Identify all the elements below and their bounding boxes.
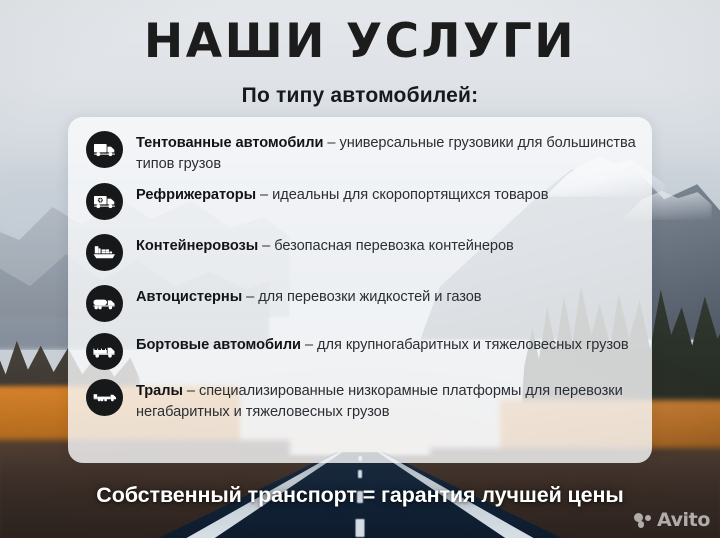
list-item: Рефрижераторы – идеальны для скоропортящ… xyxy=(86,183,638,220)
services-card: Тентованные автомобили – универсальные г… xyxy=(68,117,652,463)
services-list: Тентованные автомобили – универсальные г… xyxy=(86,131,638,423)
flatbed-truck-icon xyxy=(86,333,123,370)
list-item: Тралы – специализированные низкорамные п… xyxy=(86,379,638,422)
list-item-dash: – xyxy=(301,337,317,353)
avito-logo-icon xyxy=(634,513,653,528)
list-item-dash: – xyxy=(258,238,274,254)
list-item-text: Тралы – специализированные низкорамные п… xyxy=(136,379,638,422)
list-item-dash: – xyxy=(242,289,258,305)
list-item-dash: – xyxy=(183,383,199,399)
list-item-text: Контейнеровозы – безопасная перевозка ко… xyxy=(136,234,514,257)
list-item: Автоцистерны – для перевозки жидкостей и… xyxy=(86,285,638,322)
list-item-text: Бортовые автомобили – для крупногабаритн… xyxy=(136,333,629,356)
poster-canvas: НАШИ УСЛУГИ По типу автомобилей: Тентова… xyxy=(0,0,720,538)
list-item-term: Автоцистерны xyxy=(136,289,242,305)
list-item: Бортовые автомобили – для крупногабаритн… xyxy=(86,333,638,370)
list-item: Контейнеровозы – безопасная перевозка ко… xyxy=(86,234,638,271)
page-subtitle: По типу автомобилей: xyxy=(0,84,720,108)
tanker-truck-icon xyxy=(86,285,123,322)
list-item-description: для перевозки жидкостей и газов xyxy=(258,289,481,305)
refrigerated-truck-icon xyxy=(86,183,123,220)
avito-wordmark: Avito xyxy=(657,509,710,531)
list-item-term: Тентованные автомобили xyxy=(136,135,323,151)
list-item-text: Рефрижераторы – идеальны для скоропортящ… xyxy=(136,183,548,206)
list-item-term: Бортовые автомобили xyxy=(136,337,301,353)
list-item-term: Тралы xyxy=(136,383,183,399)
list-item-term: Контейнеровозы xyxy=(136,238,258,254)
list-item-dash: – xyxy=(256,187,272,203)
container-ship-icon xyxy=(86,234,123,271)
list-item-text: Тентованные автомобили – универсальные г… xyxy=(136,131,638,174)
list-item-description: для крупногабаритных и тяжеловесных груз… xyxy=(317,337,629,353)
list-item-dash: – xyxy=(323,135,339,151)
list-item-term: Рефрижераторы xyxy=(136,187,256,203)
list-item: Тентованные автомобили – универсальные г… xyxy=(86,131,638,174)
box-truck-icon xyxy=(86,131,123,168)
avito-watermark: Avito xyxy=(634,509,710,531)
list-item-description: специализированные низкорамные платформы… xyxy=(136,383,623,420)
lowboy-trailer-icon xyxy=(86,379,123,416)
list-item-description: идеальны для скоропортящихся товаров xyxy=(272,187,548,203)
list-item-description: безопасная перевозка контейнеров xyxy=(274,238,514,254)
footer-tagline: Собственный транспорт = гарантия лучшей … xyxy=(0,483,720,508)
page-title: НАШИ УСЛУГИ xyxy=(0,17,720,67)
list-item-text: Автоцистерны – для перевозки жидкостей и… xyxy=(136,285,482,308)
